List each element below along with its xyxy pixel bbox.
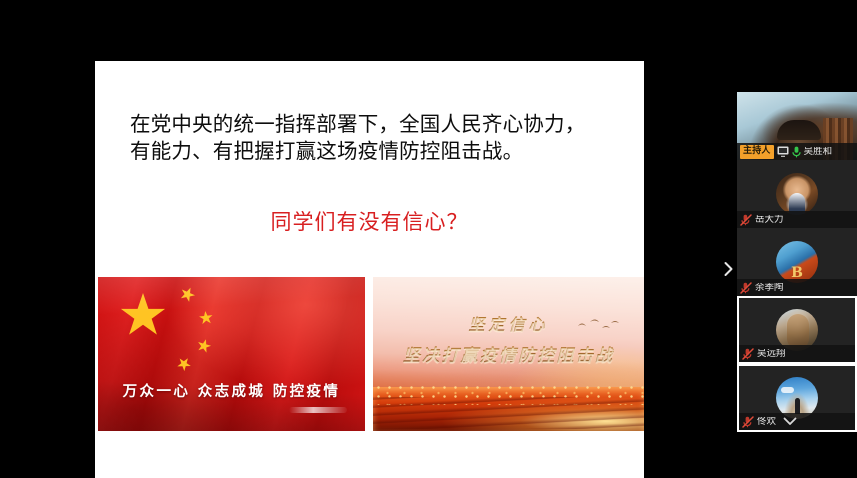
slide-body-text: 在党中央的统一指挥部署下，全国人民齐心协力， 有能力、有把握打赢这场疫情防控阻击…	[130, 111, 620, 165]
poster-text-block: 坚定信心 坚决打赢疫情防控阻击战	[373, 311, 644, 366]
confidence-poster-image: 坚定信心 坚决打赢疫情防控阻击战	[373, 277, 644, 431]
prc-flag-image: 万众一心 众志成城 防控疫情	[98, 277, 365, 431]
microphone-muted-icon	[742, 416, 754, 428]
participant-tile-3[interactable]: B 余季陶	[737, 228, 857, 296]
flag-star-small-3	[195, 337, 212, 354]
slide-question-text: 同学们有没有信心？	[95, 206, 644, 236]
host-badge: 主持人	[740, 145, 774, 159]
participant-name: 吴胜和	[804, 147, 833, 157]
avatar	[776, 173, 818, 215]
zoom-meeting-window: 在党中央的统一指挥部署下，全国人民齐心协力， 有能力、有把握打赢这场疫情防控阻击…	[0, 0, 857, 478]
flag-star-small-2	[198, 310, 213, 325]
flag-light-streak	[289, 407, 347, 413]
host-hair	[777, 120, 821, 140]
participant-name: 岳大力	[755, 215, 784, 225]
participant-name-bar: 主持人 吴胜和	[737, 143, 857, 160]
poster-line-1: 坚定信心	[373, 311, 644, 335]
participant-tile-5[interactable]: 佟欢	[737, 364, 857, 432]
chevron-right-icon	[723, 261, 734, 277]
collapse-panel-button[interactable]	[719, 255, 737, 283]
avatar: B	[776, 241, 818, 283]
participant-tile-4[interactable]: 吴远翔	[737, 296, 857, 364]
participant-name-bar: 岳大力	[737, 211, 857, 228]
participant-name-bar: 余季陶	[737, 279, 857, 296]
flag-star-small-1	[178, 285, 198, 305]
participant-name-bar: 佟欢	[739, 413, 855, 430]
microphone-muted-icon	[740, 214, 752, 226]
poster-line-2: 坚决打赢疫情防控阻击战	[373, 341, 644, 366]
participant-name: 余季陶	[755, 283, 784, 293]
chevron-down-icon	[783, 417, 797, 426]
participant-tile-host[interactable]: 主持人 吴胜和	[737, 92, 857, 160]
microphone-icon	[792, 146, 801, 158]
flag-caption-text: 万众一心 众志成城 防控疫情	[98, 380, 365, 401]
flag-star-large	[120, 293, 166, 339]
show-more-participants-button[interactable]	[783, 413, 797, 431]
participant-name: 佟欢	[757, 417, 776, 427]
cloud-shape	[781, 387, 794, 393]
participant-tile-2[interactable]: 岳大力	[737, 160, 857, 228]
slide-image-row: 万众一心 众志成城 防控疫情 坚定信心 坚决打赢疫情防控阻击战	[98, 277, 644, 431]
shared-slide[interactable]: 在党中央的统一指挥部署下，全国人民齐心协力， 有能力、有把握打赢这场疫情防控阻击…	[95, 61, 644, 478]
participant-name-bar: 吴远翔	[739, 345, 855, 362]
microphone-muted-icon	[742, 348, 754, 360]
poster-light-streaks	[373, 397, 644, 429]
participant-video-panel[interactable]: 主持人 吴胜和	[737, 92, 857, 432]
screen-share-icon	[777, 146, 789, 157]
flag-star-small-4	[174, 354, 193, 373]
microphone-muted-icon	[740, 282, 752, 294]
participant-name: 吴远翔	[757, 349, 786, 359]
